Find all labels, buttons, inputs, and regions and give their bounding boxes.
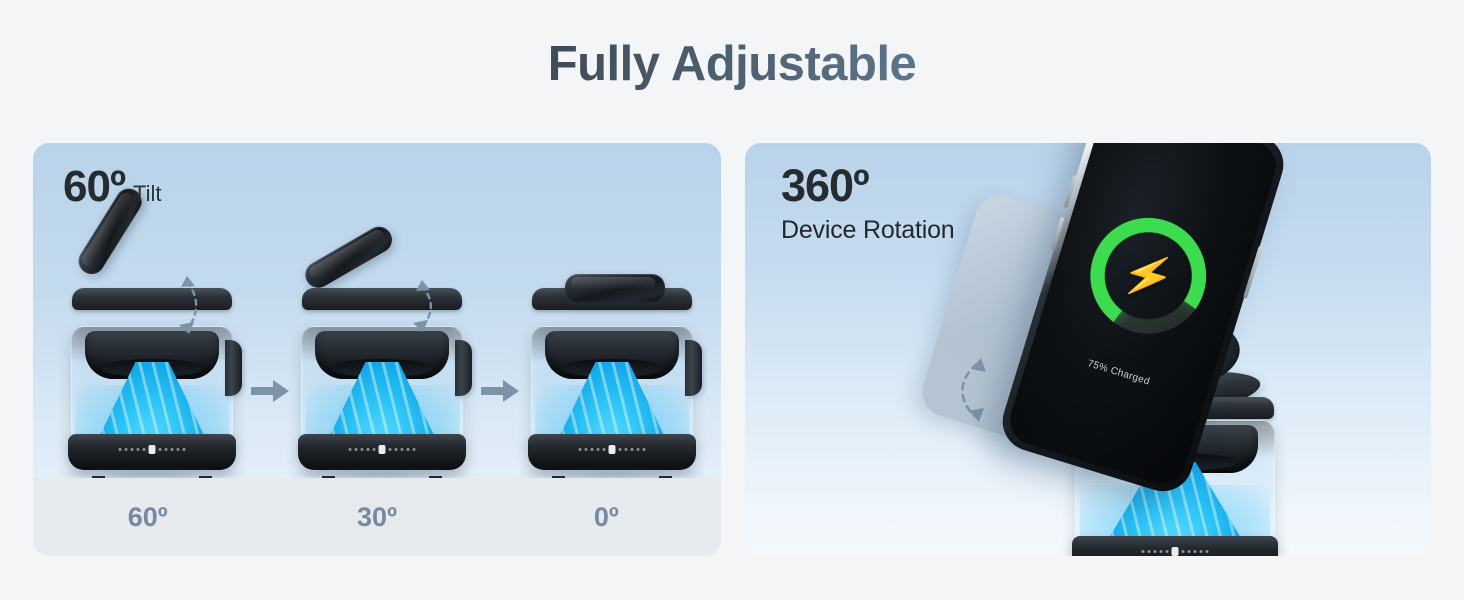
device-lid-30 — [301, 222, 397, 293]
device-led-indicators — [1142, 547, 1209, 556]
device-glass-body — [301, 326, 463, 448]
device-base — [528, 434, 696, 470]
tilt-heading: 60ºTilt — [63, 165, 162, 209]
device-glass-body — [71, 326, 233, 448]
tilt-heading-value: 60º — [63, 165, 125, 209]
panel-rotation: 360º Device Rotation — [745, 143, 1431, 556]
device-side-knob — [455, 340, 472, 396]
tilt-label-30: 30º — [262, 502, 491, 533]
device-side-knob — [225, 340, 242, 396]
page-title: Fully Adjustable — [0, 36, 1464, 92]
device-lid-0 — [565, 274, 665, 302]
arrow-right-icon — [479, 378, 521, 404]
device-tilt-0 — [531, 288, 693, 478]
tilt-label-0: 0º — [492, 502, 721, 533]
device-tilt-30 — [301, 288, 463, 478]
curved-double-arrow-icon — [941, 348, 1003, 434]
tilt-angle-labels: 60º 30º 0º — [33, 478, 721, 556]
device-base — [1072, 536, 1278, 556]
curved-double-arrow-icon — [397, 276, 443, 338]
charge-status-text: 75% Charged — [1086, 358, 1151, 387]
rotation-heading-value: 360º — [781, 163, 869, 208]
device-tilt-60 — [71, 288, 233, 478]
device-led-indicators — [579, 445, 646, 454]
device-side-knob — [685, 340, 702, 396]
device-led-indicators — [119, 445, 186, 454]
tilt-heading-label: Tilt — [133, 181, 162, 207]
rotation-heading: 360º Device Rotation — [781, 163, 954, 245]
device-glass-body — [531, 326, 693, 448]
device-led-indicators — [349, 445, 416, 454]
arrow-right-icon — [249, 378, 291, 404]
curved-double-arrow-icon — [157, 270, 203, 340]
device-top-rim — [72, 288, 232, 310]
rotation-heading-label: Device Rotation — [781, 216, 954, 245]
tilt-label-60: 60º — [33, 502, 262, 533]
device-base — [68, 434, 236, 470]
device-base — [298, 434, 466, 470]
